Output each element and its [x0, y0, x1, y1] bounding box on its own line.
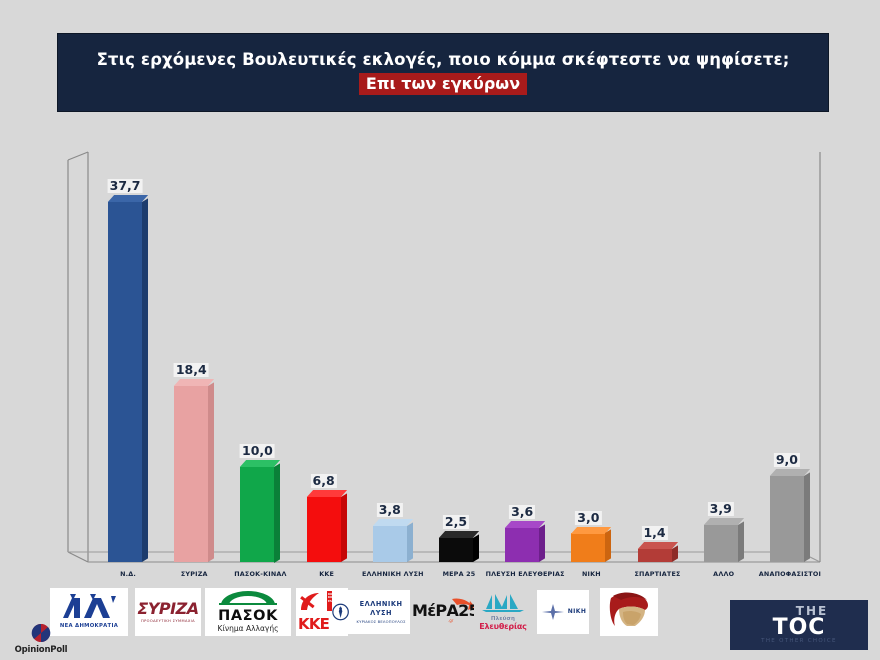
bar-side-face [208, 383, 214, 562]
bar-side-face [473, 534, 479, 562]
logo-syriza-main: ΣΥΡΙΖΑ [137, 601, 198, 618]
logo-pasok: ΠΑΣΟΚ Κίνημα Αλλαγής [205, 588, 291, 636]
poll-subtitle-badge: Επι των εγκύρων [359, 73, 527, 95]
bars-layer: 37,7Ν.Δ.18,4ΣΥΡΙΖΑ10,0ΠΑΣΟΚ-ΚΙΝΑΛ6,8ΚΚΕ3… [0, 112, 880, 582]
bar-value-label: 10,0 [240, 444, 275, 458]
bar-value-label: 18,4 [174, 363, 209, 377]
bar-chart: 37,7Ν.Δ.18,4ΣΥΡΙΖΑ10,0ΠΑΣΟΚ-ΚΙΝΑΛ6,8ΚΚΕ3… [0, 112, 880, 582]
sailboat-icon [476, 593, 530, 613]
logo-elliniki-lysi-sub: ΚΥΡΙΑΚΟΣ ΒΕΛΟΠΟΥΛΟΣ [352, 621, 410, 625]
category-label-1: Ν.Δ. [120, 570, 136, 578]
bar-side-face [341, 493, 347, 562]
bar-value-label: 37,7 [108, 179, 143, 193]
category-label-6: ΜΕΡΑ 25 [443, 570, 476, 578]
logo-mera25-main: ΜέΡΑ25 [412, 603, 474, 620]
bar-side-face [738, 521, 744, 562]
bar-side-face [407, 522, 413, 562]
logo-elliniki-lysi-main: ΕΛΛΗΝΙΚΗ ΛΥΣΗ [352, 600, 410, 618]
bar-11[interactable]: 9,0 [770, 476, 804, 562]
bar-3[interactable]: 10,0 [240, 467, 274, 563]
bar-value-label: 9,0 [774, 453, 800, 467]
bar-side-face [274, 463, 280, 562]
bar-front-face [505, 528, 539, 562]
spartan-helmet-icon [605, 592, 653, 632]
bar-front-face [770, 476, 804, 562]
hammer-sickle-icon [297, 590, 325, 614]
logo-spartiates [600, 588, 658, 636]
category-label-4: ΚΚΕ [319, 570, 334, 578]
bar-front-face [704, 525, 738, 562]
logo-elliniki-lysi: ΕΛΛΗΝΙΚΗ ΛΥΣΗ ΚΥΡΙΑΚΟΣ ΒΕΛΟΠΟΥΛΟΣ [332, 590, 410, 634]
logo-kke-main: ΚΚΕ [298, 617, 329, 633]
bar-front-face [373, 526, 407, 562]
bar-side-face [605, 530, 611, 562]
niki-star-icon [540, 602, 566, 622]
logo-mera25: ΜέΡΑ25 .gr [412, 592, 474, 630]
bar-value-label: 3,0 [575, 511, 601, 525]
logo-niki-main: ΝΙΚΗ [568, 609, 587, 615]
bar-top-face [638, 542, 678, 549]
poll-question: Στις ερχόμενες Βουλευτικές εκλογές, ποιο… [97, 50, 790, 69]
bar-1[interactable]: 37,7 [108, 202, 142, 562]
bar-value-label: 1,4 [641, 526, 667, 540]
bar-2[interactable]: 18,4 [174, 386, 208, 562]
elliniki-lysi-emblem-icon [332, 602, 349, 622]
logo-pleusi-eleutherias: Πλεύση Ελευθερίας [466, 590, 540, 634]
logo-pleusi-sub: Ελευθερίας [476, 623, 530, 631]
bar-4[interactable]: 6,8 [307, 497, 341, 562]
bar-front-face [240, 467, 274, 563]
bar-front-face [108, 202, 142, 562]
nd-emblem-icon [60, 594, 118, 620]
bar-value-label: 3,9 [708, 502, 734, 516]
bar-8[interactable]: 3,0 [571, 533, 605, 562]
pasok-sun-icon [217, 590, 279, 605]
title-banner: Στις ερχόμενες Βουλευτικές εκλογές, ποιο… [57, 33, 829, 112]
category-label-3: ΠΑΣΟΚ-ΚΙΝΑΛ [234, 570, 286, 578]
opinionpoll-mark-icon [29, 622, 53, 644]
logo-mera25-sub: .gr [448, 619, 453, 623]
thetoc-tagline: THE OTHER CHOICE [761, 638, 837, 645]
bar-front-face [571, 533, 605, 562]
bar-value-label: 3,6 [509, 505, 535, 519]
bar-side-face [142, 198, 148, 562]
bar-6[interactable]: 2,5 [439, 538, 473, 562]
logo-pasok-sub: Κίνημα Αλλαγής [217, 624, 279, 634]
category-label-7: ΠΛΕΥΣΗ ΕΛΕΥΘΕΡΙΑΣ [486, 570, 565, 578]
category-label-8: ΝΙΚΗ [582, 570, 601, 578]
category-label-9: ΣΠΑΡΤΙΑΤΕΣ [634, 570, 680, 578]
thetoc-toc-text: TOC [773, 617, 826, 638]
category-label-2: ΣΥΡΙΖΑ [181, 570, 208, 578]
opinionpoll-label: OpinionPoll [15, 645, 68, 655]
bar-value-label: 6,8 [311, 474, 337, 488]
logo-pasok-main: ΠΑΣΟΚ [217, 609, 279, 624]
opinionpoll-logo: OpinionPoll [4, 620, 78, 656]
logo-syriza-sub: ΠΡΟΟΔΕΥΤΙΚΗ ΣΥΜΜΑΧΙΑ [137, 620, 198, 624]
bar-7[interactable]: 3,6 [505, 528, 539, 562]
bar-value-label: 3,8 [377, 503, 403, 517]
bar-9[interactable]: 1,4 [638, 549, 672, 562]
category-label-11: ΑΝΑΠΟΦΑΣΙΣΤΟΙ [759, 570, 821, 578]
bar-side-face [804, 472, 810, 562]
bar-front-face [638, 549, 672, 562]
category-label-5: ΕΛΛΗΝΙΚΗ ΛΥΣΗ [362, 570, 424, 578]
bar-5[interactable]: 3,8 [373, 526, 407, 562]
bar-side-face [672, 545, 678, 562]
thetoc-logo: THE TOC THE OTHER CHOICE [730, 600, 868, 650]
bar-10[interactable]: 3,9 [704, 525, 738, 562]
bar-value-label: 2,5 [443, 515, 469, 529]
logo-niki: ΝΙΚΗ [537, 590, 589, 634]
bar-front-face [439, 538, 473, 562]
bar-front-face [307, 497, 341, 562]
bar-front-face [174, 386, 208, 562]
bar-side-face [539, 524, 545, 562]
category-label-10: ΑΛΛΟ [713, 570, 734, 578]
logo-syriza: ΣΥΡΙΖΑ ΠΡΟΟΔΕΥΤΙΚΗ ΣΥΜΜΑΧΙΑ [135, 588, 201, 636]
